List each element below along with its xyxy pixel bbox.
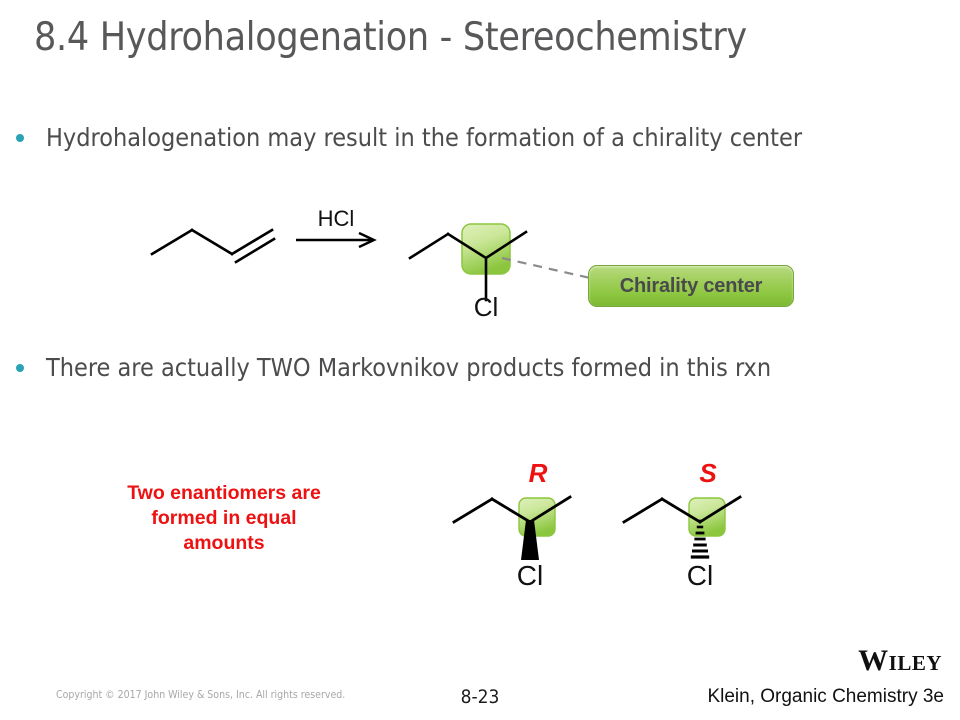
enantiomer-s-structure: S Cl [610, 452, 780, 592]
callout-leader-line [502, 258, 590, 278]
page-title: 8.4 Hydrohalogenation - Stereochemistry [34, 14, 934, 62]
product-2-chlorobutane: Cl [410, 224, 526, 322]
wiley-logo: Wiley [858, 645, 942, 677]
bullet-2-label: There are actually TWO Markovnikov produ… [46, 352, 771, 383]
bullet-item-2: There are actually TWO Markovnikov produ… [16, 352, 946, 383]
enantiomer-note-line-1: Two enantiomers are [98, 481, 350, 506]
chirality-center-callout: Chirality center [588, 265, 794, 307]
substituent-label-cl: Cl [517, 560, 543, 591]
book-credit: Klein, Organic Chemistry 3e [707, 686, 944, 708]
enantiomer-r-structure: R Cl [440, 452, 610, 592]
bullet-dot-icon [16, 364, 24, 372]
substituent-label-cl: Cl [474, 292, 499, 322]
stereodescriptor-s: S [699, 458, 717, 488]
enantiomer-note-line-2: formed in equal [98, 506, 350, 531]
reagent-label: HCl [318, 206, 355, 231]
reactant-1-butene [152, 230, 274, 262]
bullet-dot-icon [16, 134, 24, 142]
enantiomer-note-line-3: amounts [98, 531, 350, 556]
chirality-center-label: Chirality center [620, 275, 762, 298]
bullet-item-1: Hydrohalogenation may result in the form… [16, 122, 946, 153]
substituent-label-cl: Cl [687, 560, 713, 591]
reaction-arrow [296, 233, 374, 247]
enantiomer-note: Two enantiomers are formed in equal amou… [98, 481, 350, 556]
bullet-1-label: Hydrohalogenation may result in the form… [46, 122, 802, 153]
stereodescriptor-r: R [529, 458, 548, 488]
